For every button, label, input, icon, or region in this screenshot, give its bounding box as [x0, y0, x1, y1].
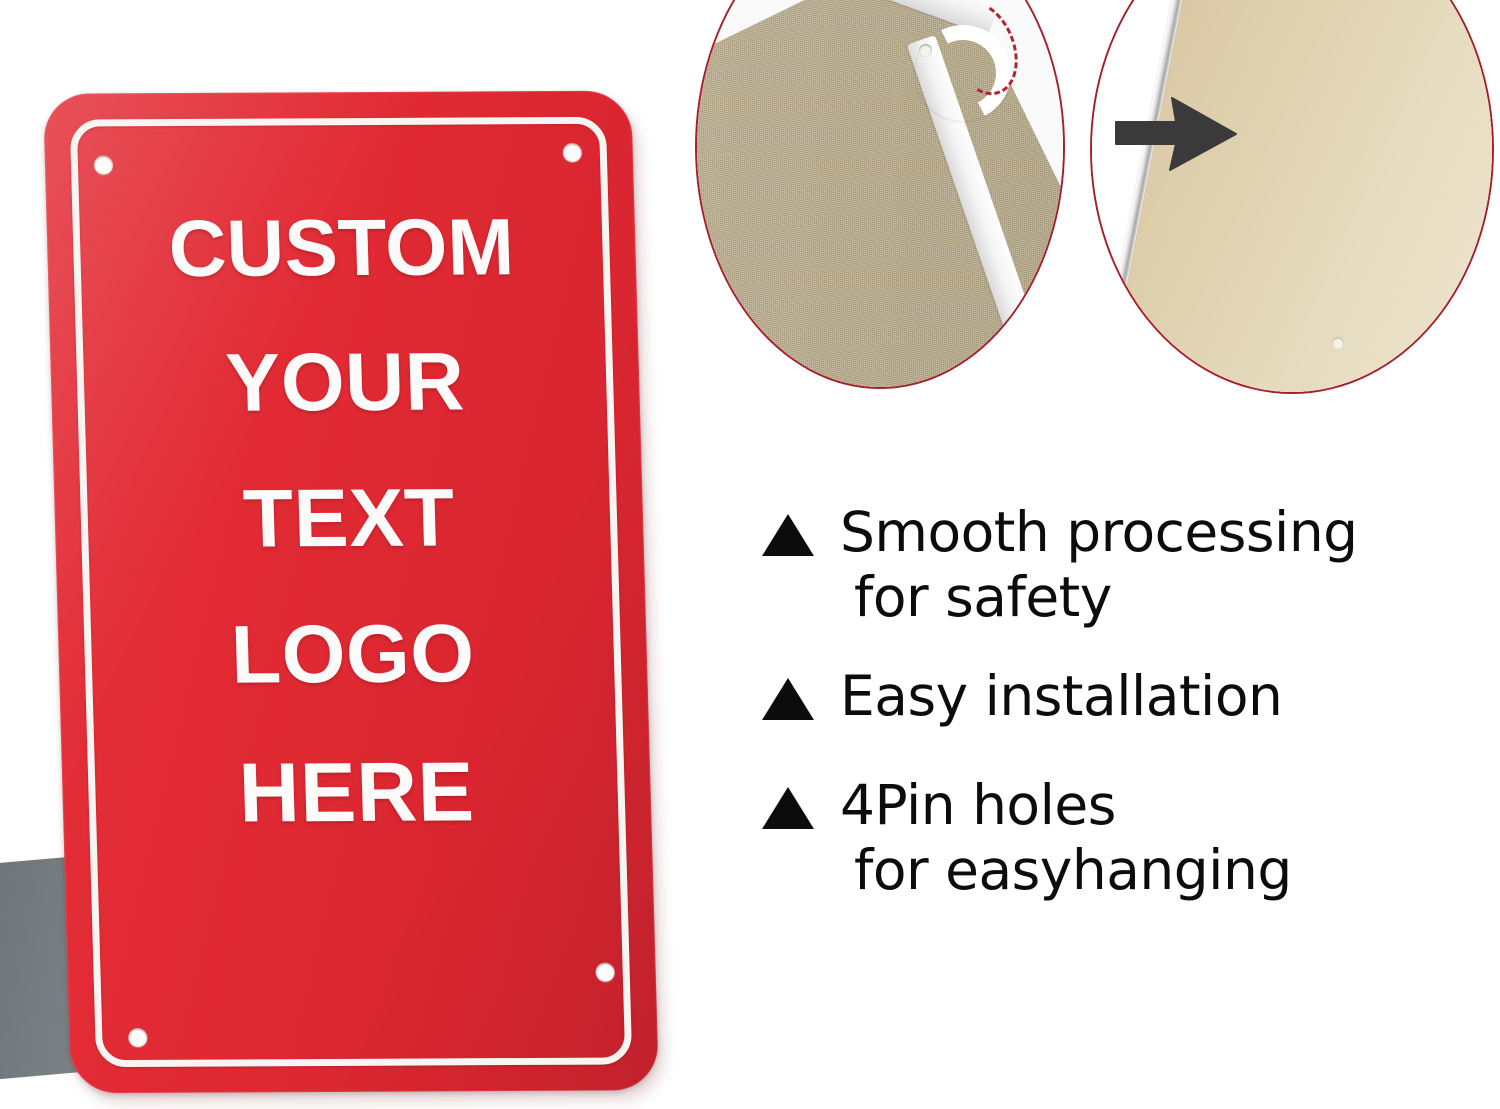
- feature-line-2: for safety: [854, 565, 1358, 630]
- corner-detail-scene: [697, 0, 1063, 387]
- feature-item-4pin-holes: 4Pin holes for easyhanging: [762, 773, 1482, 903]
- corner-detail-circle: [695, 0, 1065, 389]
- detail-callout-group: [690, 0, 1500, 430]
- feature-text: Easy installation: [840, 664, 1282, 729]
- sign-product-photo: CUSTOM YOUR TEXT LOGO HERE: [0, 0, 700, 1109]
- feature-item-easy-installation: Easy installation: [762, 664, 1482, 729]
- triangle-bullet-icon: [762, 787, 814, 829]
- arrow-right-icon: [1114, 92, 1238, 174]
- hole-bottom-left-icon: [128, 1028, 148, 1047]
- feature-text: 4Pin holes for easyhanging: [840, 773, 1292, 903]
- corner-mounting-hole-icon: [919, 44, 932, 57]
- gold-back-panel: [1096, 0, 1494, 394]
- sign-line-4: LOGO: [98, 613, 608, 698]
- feature-line-2: for easyhanging: [854, 838, 1292, 903]
- feature-line-1: Easy installation: [840, 664, 1282, 728]
- feature-line-1: Smooth processing: [840, 500, 1358, 564]
- custom-sign: CUSTOM YOUR TEXT LOGO HERE: [43, 91, 659, 1094]
- sign-line-2: YOUR: [90, 341, 600, 426]
- hole-top-left-icon: [94, 155, 114, 174]
- feature-item-smooth-processing: Smooth processing for safety: [762, 500, 1482, 630]
- sign-line-5: HERE: [101, 749, 611, 836]
- product-image-canvas: CUSTOM YOUR TEXT LOGO HERE: [0, 0, 1500, 1109]
- triangle-bullet-icon: [762, 514, 814, 556]
- bevel-detail-circle: [1090, 0, 1494, 394]
- sign-line-1: CUSTOM: [86, 207, 596, 290]
- sign-text-block: CUSTOM YOUR TEXT LOGO HERE: [86, 207, 612, 835]
- hole-top-right-icon: [563, 143, 583, 162]
- bevel-detail-scene: [1092, 0, 1492, 392]
- feature-line-1: 4Pin holes: [840, 773, 1116, 837]
- sign-line-3: TEXT: [94, 477, 604, 562]
- hole-bottom-right-icon: [595, 963, 615, 982]
- triangle-bullet-icon: [762, 678, 814, 720]
- sign-red-plate: CUSTOM YOUR TEXT LOGO HERE: [43, 91, 659, 1094]
- bevel-mounting-hole-icon: [1332, 337, 1344, 349]
- feature-list: Smooth processing for safety Easy instal…: [762, 500, 1482, 936]
- feature-text: Smooth processing for safety: [840, 500, 1358, 630]
